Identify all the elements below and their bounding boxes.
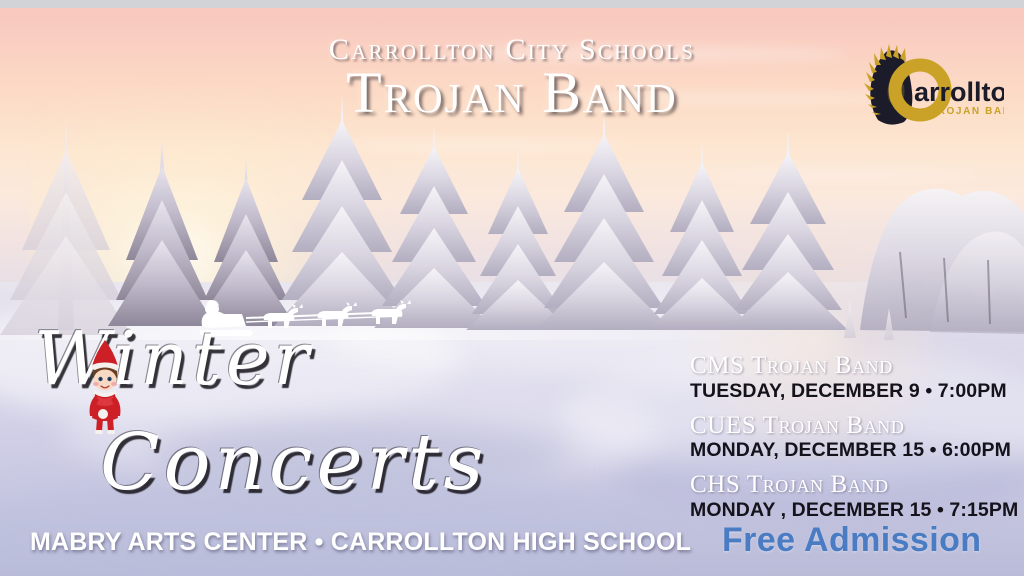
concert-item: CUES Trojan Band MONDAY, DECEMBER 15 • 6… <box>690 412 1010 463</box>
winter-concerts-poster: Carrollton City Schools Trojan Band <box>0 0 1024 576</box>
elf-on-the-shelf-icon <box>78 338 132 434</box>
headline-winter: Winter <box>34 316 313 402</box>
concert-ensemble-name: CUES Trojan Band <box>690 412 1010 440</box>
concert-datetime: MONDAY , DECEMBER 15 • 7:15PM <box>690 499 1010 522</box>
carrollton-trojan-band-logo: arrollton TROJAN BAND <box>856 42 1004 128</box>
concert-ensemble-name: CHS Trojan Band <box>690 471 1010 499</box>
concert-schedule-list: CMS Trojan Band TUESDAY, DECEMBER 9 • 7:… <box>690 352 1010 531</box>
concert-datetime: TUESDAY, DECEMBER 9 • 7:00PM <box>690 380 1010 403</box>
headline-concerts: Concerts <box>100 418 487 508</box>
concert-datetime: MONDAY, DECEMBER 15 • 6:00PM <box>690 439 1010 462</box>
letterbox-bar-top <box>0 0 1024 8</box>
concert-item: CMS Trojan Band TUESDAY, DECEMBER 9 • 7:… <box>690 352 1010 403</box>
concert-ensemble-name: CMS Trojan Band <box>690 352 1010 380</box>
venue-label: MABRY ARTS CENTER • CARROLLTON HIGH SCHO… <box>30 528 691 557</box>
logo-wordmark: arrollton <box>914 77 1004 107</box>
logo-subtitle: TROJAN BAND <box>930 106 1004 117</box>
free-admission-label: Free Admission <box>722 521 981 560</box>
concert-item: CHS Trojan Band MONDAY , DECEMBER 15 • 7… <box>690 471 1010 522</box>
